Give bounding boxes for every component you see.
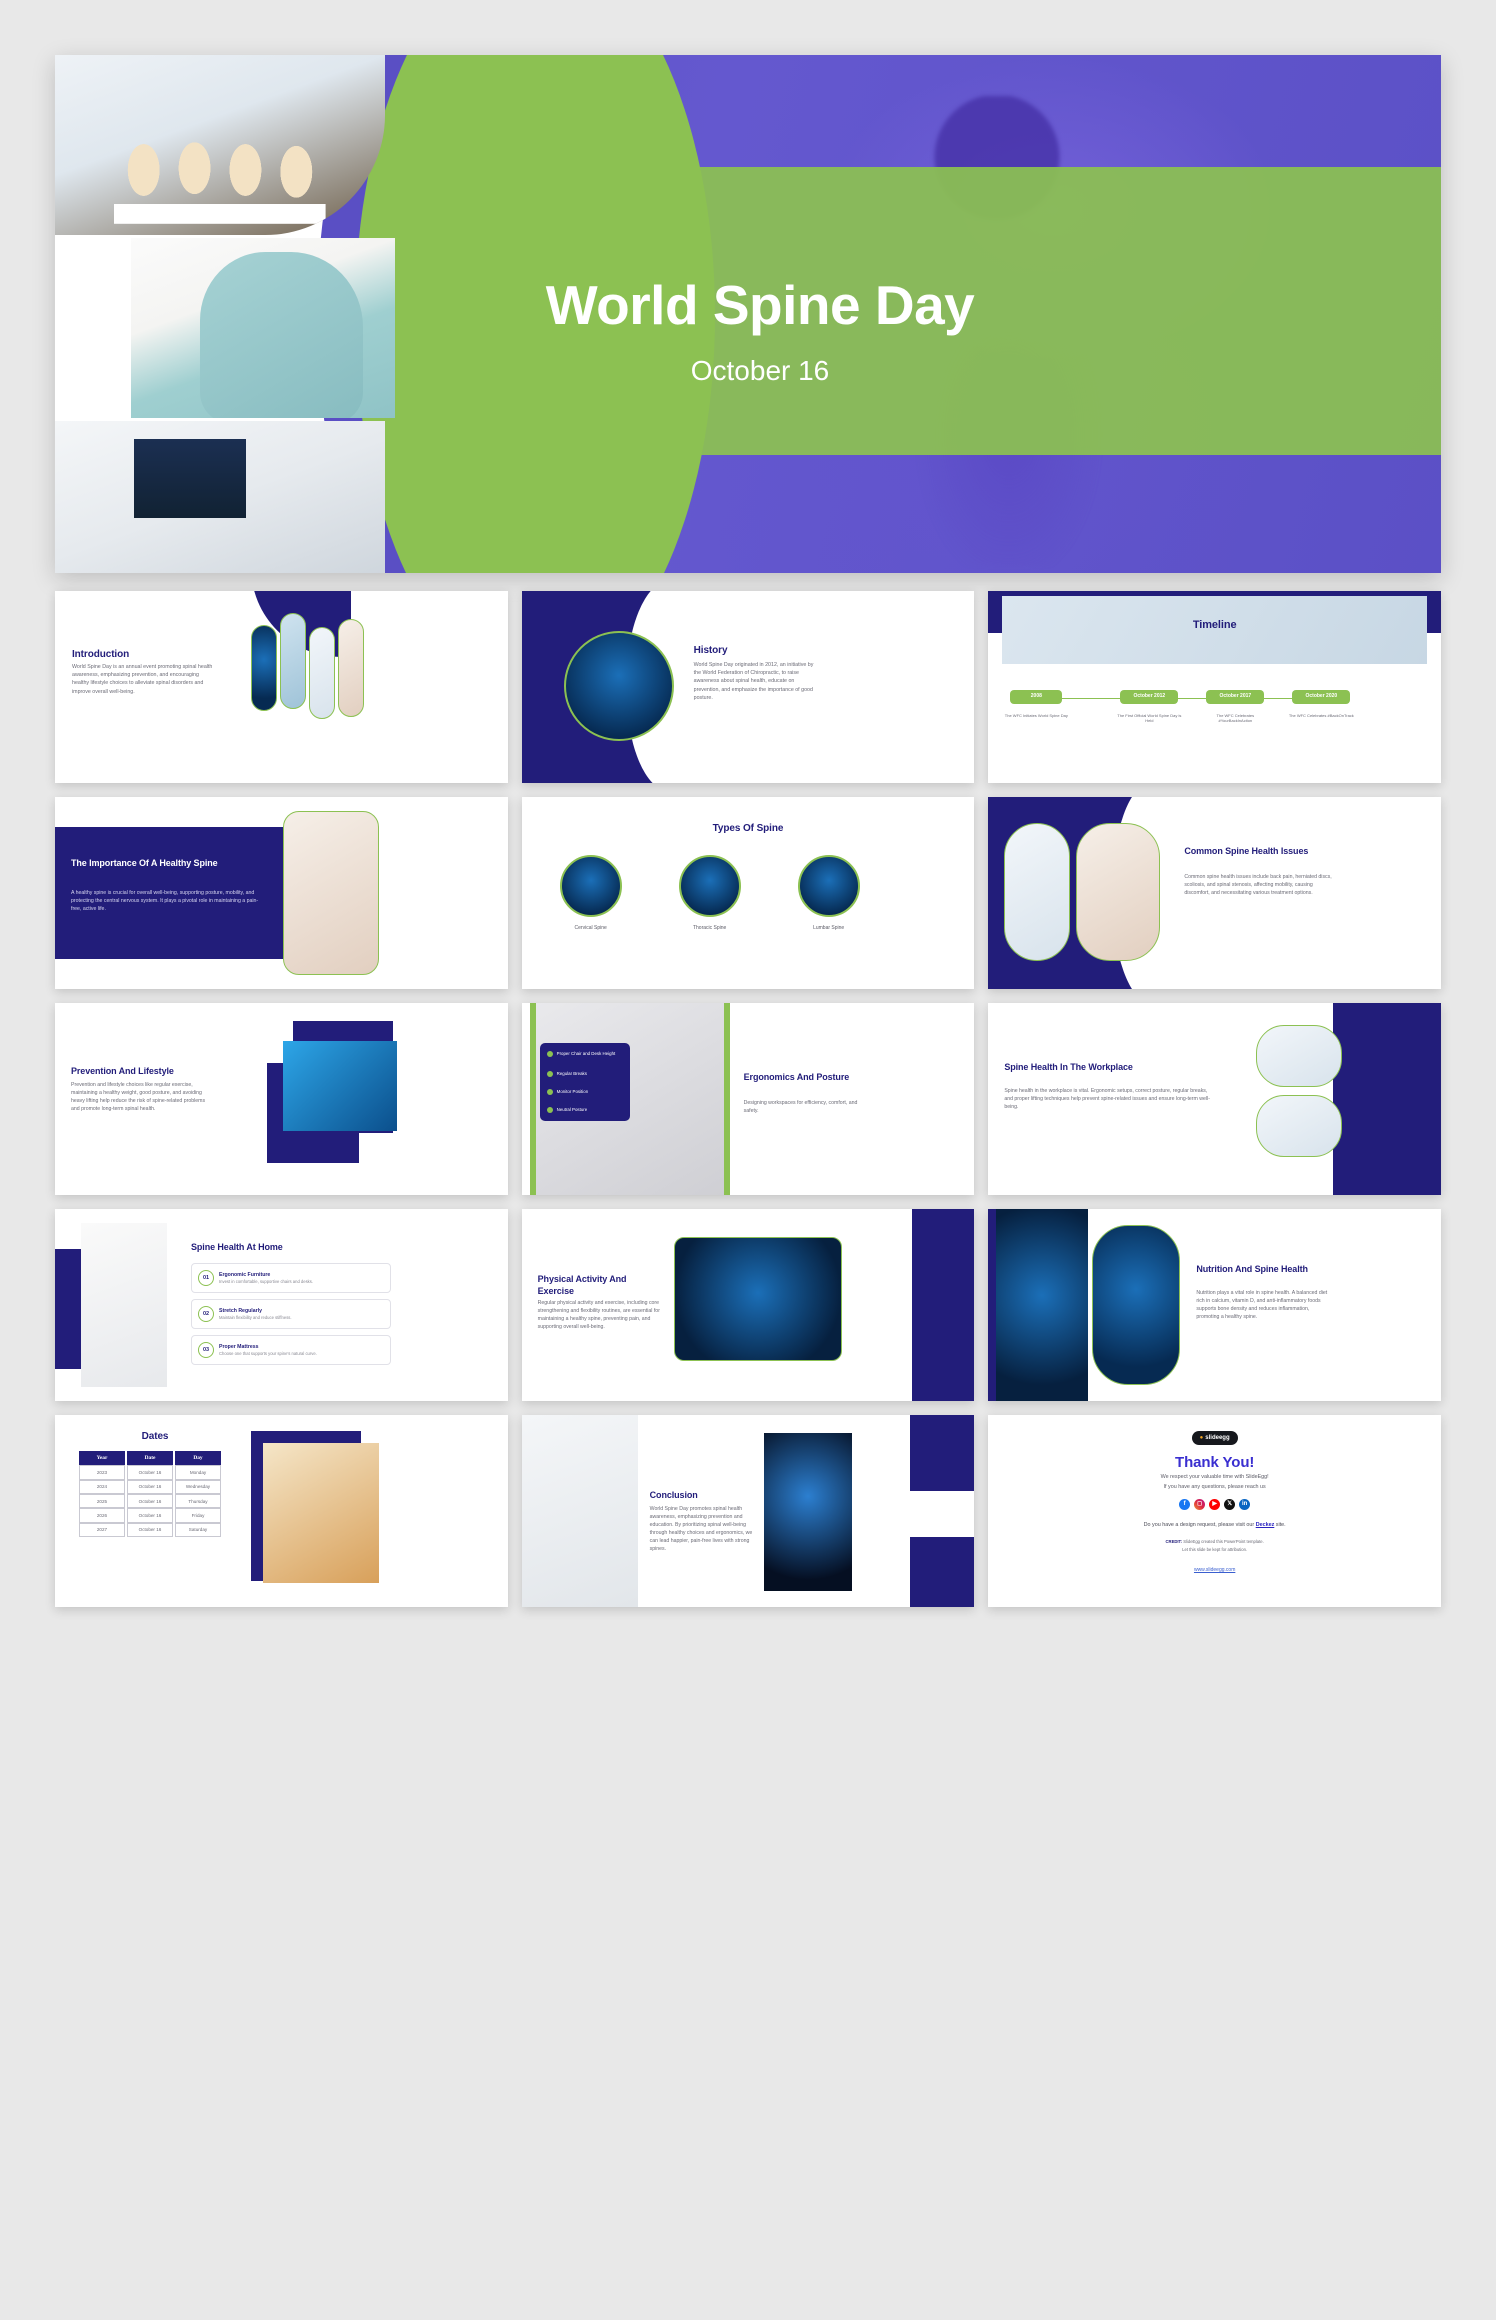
importance-image [283, 811, 379, 975]
cell-year: 2025 [79, 1494, 125, 1508]
type-label-1: Cervical Spine [560, 925, 622, 933]
x-icon[interactable]: 𝕏 [1224, 1499, 1235, 1510]
cell-date: October 16 [127, 1465, 173, 1479]
type-image-1 [560, 855, 622, 917]
step-desc: Choose one that supports your spine's na… [219, 1351, 317, 1358]
home-image [81, 1223, 167, 1387]
timeline-node-4: October 2020 [1292, 690, 1350, 704]
table-header-row: Year Date Day [79, 1451, 221, 1465]
cell-year: 2027 [79, 1523, 125, 1537]
hero-image-spine-model [55, 55, 385, 235]
conclusion-image-right [764, 1433, 852, 1591]
slide-title: Prevention And Lifestyle [71, 1065, 174, 1079]
step-text: Ergonomic Furniture Invest in comfortabl… [219, 1271, 313, 1286]
photo-pill-4 [338, 619, 364, 717]
brand-logo[interactable]: ● slideegg [988, 1431, 1441, 1445]
cell-day: Wednesday [175, 1480, 221, 1494]
request-prefix: Do you have a design request, please vis… [1144, 1522, 1256, 1528]
issues-image-2 [1076, 823, 1160, 961]
prevention-image [283, 1041, 397, 1131]
slide-body: World Spine Day originated in 2012, an i… [694, 661, 822, 702]
slide-ergonomics[interactable]: Proper Chair and Desk Height Regular Bre… [522, 1003, 975, 1195]
photo-pill-2 [280, 613, 306, 709]
slide-workplace[interactable]: Spine Health In The Workplace Spine heal… [988, 1003, 1441, 1195]
slide-history[interactable]: History World Spine Day originated in 20… [522, 591, 975, 783]
slide-title: Types Of Spine [522, 821, 975, 837]
col-date: Date [127, 1451, 173, 1465]
youtube-icon[interactable]: ▶ [1209, 1499, 1220, 1510]
request-suffix: site. [1274, 1522, 1285, 1528]
slide-body: Regular physical activity and exercise, … [538, 1299, 662, 1331]
bullet-dot-icon [547, 1071, 553, 1077]
slide-body: Nutrition plays a vital role in spine he… [1196, 1289, 1330, 1321]
cell-day: Monday [175, 1465, 221, 1479]
slide-body: World Spine Day is an annual event promo… [72, 663, 217, 696]
credit-line2: Let this slide be kept for attribution. [988, 1547, 1441, 1554]
slide-activity[interactable]: Physical Activity And Exercise Regular p… [522, 1209, 975, 1401]
cell-date: October 16 [127, 1494, 173, 1508]
col-year: Year [79, 1451, 125, 1465]
table-row: 2025 October 16 Thursday [79, 1494, 221, 1508]
slide-prevention[interactable]: Prevention And Lifestyle Prevention and … [55, 1003, 508, 1195]
table-row: 2026 October 16 Friday [79, 1508, 221, 1522]
thank-you-title: Thank You! [988, 1451, 1441, 1474]
step-label: Proper Mattress [219, 1343, 317, 1351]
workplace-image-1 [1256, 1025, 1342, 1087]
logo-text: slideegg [1205, 1434, 1229, 1443]
slides-grid: Introduction World Spine Day is an annua… [55, 591, 1441, 1607]
template-preview-page: World Spine Day October 16 Introduction … [0, 0, 1496, 2320]
step-number-badge: 03 [198, 1342, 214, 1358]
nutrition-image-2 [1092, 1225, 1180, 1385]
type-label-3: Lumbar Spine [798, 925, 860, 933]
photo-pill-3 [309, 627, 335, 719]
slide-title: Dates [73, 1429, 237, 1445]
bullet-dot-icon [547, 1089, 553, 1095]
navy-block-top [910, 1415, 974, 1491]
timeline-node-2: October 2012 [1120, 690, 1178, 704]
hero-image-back-pain [131, 238, 395, 418]
step-text: Proper Mattress Choose one that supports… [219, 1343, 317, 1358]
slide-title: Spine Health In The Workplace [1004, 1061, 1134, 1073]
hero-image-consultation [55, 421, 385, 573]
step-label: Stretch Regularly [219, 1307, 292, 1315]
dates-image [263, 1443, 379, 1583]
timeline-caption-4: The WFC Celebrates #BackOnTrack [1286, 713, 1356, 718]
slide-importance[interactable]: The Importance Of A Healthy Spine A heal… [55, 797, 508, 989]
type-label-2: Thoracic Spine [679, 925, 741, 933]
workplace-image-2 [1256, 1095, 1342, 1157]
home-step-1-content: 01 Ergonomic Furniture Invest in comfort… [198, 1270, 313, 1286]
slide-body: World Spine Day promotes spinal health a… [650, 1505, 754, 1553]
facebook-icon[interactable]: f [1179, 1499, 1190, 1510]
table-row: 2027 October 16 Saturday [79, 1523, 221, 1537]
cell-day: Thursday [175, 1494, 221, 1508]
slide-conclusion[interactable]: Conclusion World Spine Day promotes spin… [522, 1415, 975, 1607]
issues-image-1 [1004, 823, 1070, 961]
timeline-node-1: 2008 [1010, 690, 1062, 704]
slide-title: Timeline [988, 617, 1441, 634]
slide-title: Ergonomics And Posture [744, 1071, 864, 1083]
cell-day: Friday [175, 1508, 221, 1522]
step-desc: Invest in comfortable, supportive chairs… [219, 1279, 313, 1286]
ergonomics-chip-3: Monitor Position [547, 1089, 588, 1096]
slide-body: Prevention and lifestyle choices like re… [71, 1081, 213, 1113]
slide-title: Common Spine Health Issues [1184, 845, 1334, 857]
credit-text: SlideEgg created this PowerPoint templat… [1182, 1539, 1264, 1544]
social-links[interactable]: f ◻ ▶ 𝕏 in [988, 1499, 1441, 1510]
hero-subtitle: October 16 [470, 355, 1050, 387]
step-label: Ergonomic Furniture [219, 1271, 313, 1279]
credit-line1: CREDIT: SlideEgg created this PowerPoint… [988, 1539, 1441, 1546]
step-text: Stretch Regularly Maintain flexibility a… [219, 1307, 292, 1322]
dates-table: Year Date Day 2023 October 16 Monday 202… [77, 1451, 223, 1537]
cell-day: Saturday [175, 1523, 221, 1537]
history-image [564, 631, 674, 741]
photo-pill-1 [251, 625, 277, 711]
cell-date: October 16 [127, 1523, 173, 1537]
chip-label: Regular Breaks [557, 1071, 587, 1078]
step-number-badge: 01 [198, 1270, 214, 1286]
linkedin-icon[interactable]: in [1239, 1499, 1250, 1510]
navy-panel [1333, 1003, 1441, 1195]
egg-icon: ● [1200, 1434, 1204, 1443]
timeline-caption-1: The WFC Initiates World Spine Day [1002, 713, 1070, 718]
conclusion-image-left [522, 1415, 638, 1607]
col-day: Day [175, 1451, 221, 1465]
slide-body: Common spine health issues include back … [1184, 873, 1332, 897]
chip-label: Monitor Position [557, 1089, 588, 1096]
slide-body: A healthy spine is crucial for overall w… [71, 889, 267, 913]
ergonomics-chip-2: Regular Breaks [547, 1071, 587, 1078]
green-stripe-right [724, 1003, 730, 1195]
slide-common-issues[interactable]: Common Spine Health Issues Common spine … [988, 797, 1441, 989]
slide-title: Physical Activity And Exercise [538, 1273, 656, 1297]
type-image-2 [679, 855, 741, 917]
slideegg-logo: ● slideegg [1192, 1431, 1238, 1445]
slide-timeline[interactable]: Timeline 2008 October 2012 October 2017 … [988, 591, 1441, 783]
cell-year: 2024 [79, 1480, 125, 1494]
cell-year: 2026 [79, 1508, 125, 1522]
slide-dates[interactable]: Dates Year Date Day 2023 October 16 Mond… [55, 1415, 508, 1607]
slide-types-of-spine[interactable]: Types Of Spine Cervical Spine Thoracic S… [522, 797, 975, 989]
instagram-icon[interactable]: ◻ [1194, 1499, 1205, 1510]
slide-title: The Importance Of A Healthy Spine [71, 857, 271, 869]
table-row: 2024 October 16 Wednesday [79, 1480, 221, 1494]
home-step-2-content: 02 Stretch Regularly Maintain flexibilit… [198, 1306, 292, 1322]
slide-title: History [694, 643, 728, 659]
timeline-node-3: October 2017 [1206, 690, 1264, 704]
design-request-line: Do you have a design request, please vis… [988, 1521, 1441, 1529]
navy-block-bottom [910, 1537, 974, 1607]
timeline-caption-2: The First Official World Spine Day is He… [1114, 713, 1184, 723]
thank-you-line1: We respect your valuable time with Slide… [988, 1473, 1441, 1481]
type-image-3 [798, 855, 860, 917]
chip-label: Proper Chair and Desk Height [557, 1051, 616, 1058]
bullet-dot-icon [547, 1107, 553, 1113]
ergonomics-chip-4: Neutral Posture [547, 1107, 588, 1114]
slide-nutrition[interactable]: Nutrition And Spine Health Nutrition pla… [988, 1209, 1441, 1401]
hero-slide: World Spine Day October 16 [55, 55, 1441, 573]
credit-label: CREDIT: [1166, 1539, 1183, 1544]
website-link[interactable]: www.slideegg.com [988, 1567, 1441, 1575]
deckez-link[interactable]: Deckez [1256, 1522, 1275, 1528]
hero-title: World Spine Day [470, 273, 1050, 337]
slide-title: Nutrition And Spine Health [1196, 1263, 1326, 1275]
home-step-3-content: 03 Proper Mattress Choose one that suppo… [198, 1342, 317, 1358]
chip-label: Neutral Posture [557, 1107, 588, 1114]
navy-panel [912, 1209, 974, 1401]
cell-year: 2023 [79, 1465, 125, 1479]
slide-title: Introduction [72, 647, 129, 663]
timeline-caption-3: The WFC Celebrates #YourBackInAction [1200, 713, 1270, 723]
slide-body: Spine health in the workplace is vital. … [1004, 1087, 1216, 1111]
bullet-dot-icon [547, 1051, 553, 1057]
slide-thank-you[interactable]: ● slideegg Thank You! We respect your va… [988, 1415, 1441, 1607]
slide-title: Conclusion [650, 1489, 698, 1503]
table-row: 2023 October 16 Monday [79, 1465, 221, 1479]
slide-introduction[interactable]: Introduction World Spine Day is an annua… [55, 591, 508, 783]
ergonomics-chip-1: Proper Chair and Desk Height [547, 1051, 627, 1058]
thank-you-line2: If you have any questions, please reach … [988, 1483, 1441, 1491]
slide-title: Spine Health At Home [191, 1241, 283, 1255]
cell-date: October 16 [127, 1480, 173, 1494]
step-desc: Maintain flexibility and reduce stiffnes… [219, 1315, 292, 1322]
slide-home[interactable]: Spine Health At Home 01 Ergonomic Furnit… [55, 1209, 508, 1401]
step-number-badge: 02 [198, 1306, 214, 1322]
slide-body: Designing workspaces for efficiency, com… [744, 1099, 862, 1115]
cell-date: October 16 [127, 1508, 173, 1522]
activity-image [674, 1237, 842, 1361]
nutrition-image-1 [996, 1209, 1088, 1401]
